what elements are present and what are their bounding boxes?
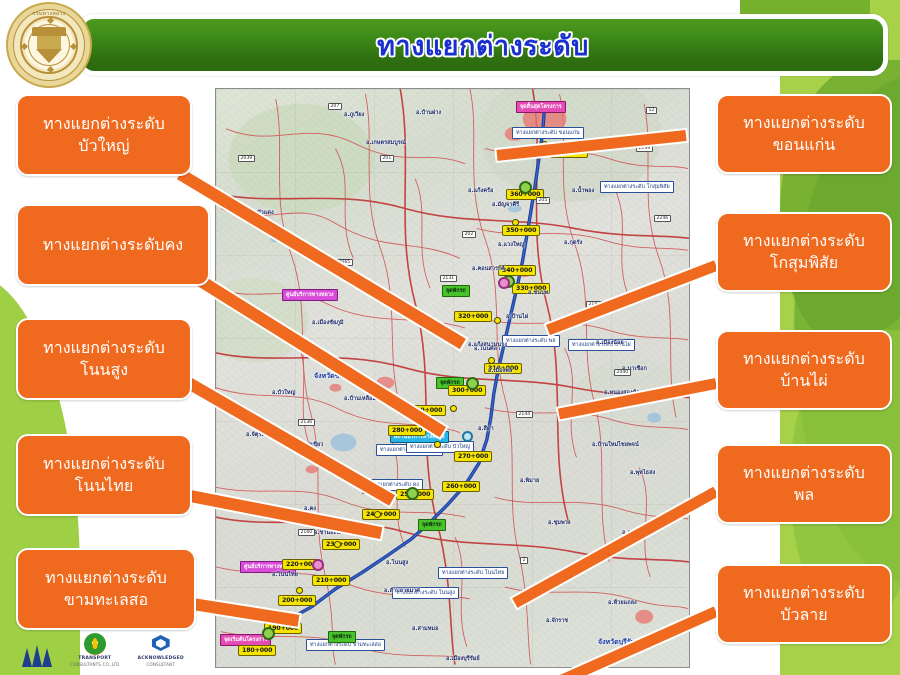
- map-label-rest-area-4: จุดพักรถ: [328, 631, 356, 643]
- map-label-project-end: จุดสิ้นสุดโครงการ: [516, 101, 566, 113]
- map-place: อ.สีดา: [478, 425, 494, 433]
- map-node-interchange: [488, 357, 495, 364]
- map-node-interchange: [434, 441, 441, 448]
- callout-line1: ทางแยกต่างระดับ: [45, 567, 167, 589]
- doh-logo: [22, 645, 52, 667]
- callout-line1: ทางแยกต่างระดับ: [43, 113, 165, 135]
- map-place: อ.เมืองบุรีรัมย์: [446, 655, 480, 663]
- km-marker: 240+000: [362, 509, 400, 520]
- map-place: อ.บ้านเหลื่อม: [344, 395, 376, 403]
- callout-line1: ทางแยกต่างระดับ: [743, 462, 865, 484]
- route-shield: 2199: [636, 145, 653, 152]
- map-place: อ.โนนไทย: [272, 571, 298, 579]
- slide-root: ทางแยกต่างระดับ กรมทางหลวง: [0, 0, 900, 675]
- callout-line2: โนนไทย: [75, 475, 133, 497]
- route-shield: 2246: [654, 215, 671, 222]
- callout-line1: ทางแยกต่างระดับ: [743, 230, 865, 252]
- callout-khong[interactable]: ทางแยกต่างระดับคง: [16, 204, 210, 286]
- leaf-circle-icon: [84, 633, 106, 655]
- route-shield: 2039: [238, 155, 255, 162]
- callout-line2: พล: [794, 484, 814, 506]
- km-marker: 270+000: [454, 451, 492, 462]
- seal-emblem-icon: [32, 25, 66, 65]
- map-label-ic-phon: ทางแยกต่างระดับ พล: [502, 335, 560, 347]
- project-route-map[interactable]: จุดสิ้นสุดโครงการ จุดเริ่มต้นโครงการ ทาง…: [215, 88, 690, 668]
- header-bar: ทางแยกต่างระดับ: [78, 14, 888, 76]
- callout-line1: ทางแยกต่างระดับ: [743, 348, 865, 370]
- transport-logo-caption: TRANSPORT: [78, 656, 111, 661]
- map-place: อ.ห้วยแถลง: [608, 599, 637, 607]
- map-label-ic-kosum-phisai: ทางแยกต่างระดับ โกสุมพิสัย: [600, 181, 674, 193]
- hexagon-icon: [150, 635, 172, 655]
- map-place: อ.เมืองพล: [488, 367, 512, 375]
- map-node-service: [498, 277, 510, 289]
- transport-logo-sub: CONSULTANTS CO.,LTD: [70, 662, 120, 667]
- route-shield: 2136: [298, 419, 315, 426]
- map-label-ic-non-thai: ทางแยกต่างระดับ โนนไทย: [438, 567, 508, 579]
- km-marker: 350+000: [502, 225, 540, 236]
- callout-non-sung[interactable]: ทางแยกต่างระดับ โนนสูง: [16, 318, 192, 400]
- map-node-rest-area: [519, 181, 532, 194]
- route-shield: 201: [380, 155, 394, 162]
- route-shield: 2160: [298, 529, 315, 536]
- km-marker: 280+000: [388, 425, 426, 436]
- callout-ban-mai[interactable]: ทางแยกต่างระดับ บ้านไผ่: [716, 330, 892, 410]
- map-place: อ.พุทไธสง: [630, 469, 655, 477]
- callout-line2: ขอนแก่น: [773, 134, 835, 156]
- callout-bua-yai[interactable]: ทางแยกต่างระดับ บัวใหญ่: [16, 94, 192, 176]
- acknowledged-caption: ACKNOWLEDGED: [138, 656, 184, 661]
- map-label-ic-khon-kaen: ทางแยกต่างระดับ ขอนแก่น: [512, 127, 584, 139]
- footer-logos: TRANSPORT CONSULTANTS CO.,LTD ACKNOWLEDG…: [22, 633, 184, 667]
- callout-line1: ทางแยกต่างระดับ: [43, 453, 165, 475]
- map-place: อ.ลำปลายมาศ: [384, 587, 420, 595]
- highways-mountain-icon: [22, 645, 52, 667]
- callout-line2: โกสุมพิสัย: [770, 252, 838, 274]
- map-place: อ.พิมาย: [520, 477, 539, 485]
- callout-line2: ขามทะเลสอ: [64, 589, 148, 611]
- km-marker: 320+000: [454, 311, 492, 322]
- callout-line2: บ้านไผ่: [780, 370, 828, 392]
- map-place: อ.โนนสูง: [386, 559, 408, 567]
- map-place: อ.เมืองชัยภูมิ: [312, 319, 344, 327]
- map-place: อ.น้ำพอง: [572, 187, 594, 195]
- callout-line2: โนนสูง: [80, 359, 128, 381]
- route-shield: 202: [462, 231, 476, 238]
- map-place: อ.ชุมพวง: [548, 519, 571, 527]
- map-place: อ.แก้งคร้อ: [468, 187, 493, 195]
- map-place: อ.ภูเวียง: [344, 111, 364, 119]
- map-node-interchange: [374, 511, 381, 518]
- callout-non-thai[interactable]: ทางแยกต่างระดับ โนนไทย: [16, 434, 192, 516]
- route-shield: 2131: [440, 275, 457, 282]
- route-shield: 207: [328, 103, 342, 110]
- callout-line2: บัวลาย: [780, 604, 827, 626]
- map-node-interchange: [494, 317, 501, 324]
- callout-khon-kaen[interactable]: ทางแยกต่างระดับ ขอนแก่น: [716, 94, 892, 174]
- map-place: อ.จักราช: [546, 617, 568, 625]
- map-place: อ.บ้านไผ่: [506, 313, 528, 321]
- callout-line2: บัวใหญ่: [78, 135, 129, 157]
- map-place: อ.แก้งสนามนาง: [468, 341, 507, 349]
- callout-line1: ทางแยกต่างระดับ: [743, 582, 865, 604]
- map-node-interchange: [334, 541, 341, 548]
- km-marker: 260+000: [442, 481, 480, 492]
- department-of-highways-seal: กรมทางหลวง: [6, 2, 92, 88]
- map-node-station: [462, 431, 473, 442]
- acknowledged-consultant-logo: ACKNOWLEDGED CONSULTANT: [138, 635, 184, 667]
- map-place: อ.ชนบท: [528, 289, 548, 297]
- map-label-rest-area-3: จุดพักรถ: [418, 519, 446, 531]
- km-marker: 200+000: [278, 595, 316, 606]
- map-place: อ.บ้านใหม่ไชยพจน์: [592, 441, 639, 449]
- map-label-rest-area-1: จุดพักรถ: [442, 285, 470, 297]
- map-node-interchange: [296, 587, 303, 594]
- callout-phon[interactable]: ทางแยกต่างระดับ พล: [716, 444, 892, 524]
- km-marker: 230+000: [322, 539, 360, 550]
- map-place: อ.บ้านฝาง: [416, 109, 441, 117]
- map-node-rest-area: [262, 627, 275, 640]
- map-place: อ.เกษตรสมบูรณ์: [366, 139, 406, 147]
- callout-kham-thale-so[interactable]: ทางแยกต่างระดับ ขามทะเลสอ: [16, 548, 196, 630]
- transport-consultant-logo: TRANSPORT CONSULTANTS CO.,LTD: [70, 633, 120, 667]
- km-marker: 180+000: [238, 645, 276, 656]
- callout-bua-lai[interactable]: ทางแยกต่างระดับ บัวลาย: [716, 564, 892, 644]
- map-node-service: [312, 559, 324, 571]
- page-title: ทางแยกต่างระดับ: [377, 24, 589, 67]
- map-node-interchange: [450, 405, 457, 412]
- map-label-service-center-1: ศูนย์บริการทางหลวง: [282, 289, 338, 301]
- route-shield: 2: [520, 557, 528, 564]
- map-place: อ.กุดรัง: [564, 239, 582, 247]
- map-node-rest-area: [406, 487, 419, 500]
- map-place: อ.สามหมอ: [412, 625, 438, 633]
- callout-kosum-phisai[interactable]: ทางแยกต่างระดับ โกสุมพิสัย: [716, 212, 892, 292]
- map-place: อ.มัญจาคีรี: [492, 201, 519, 209]
- callout-line1: ทางแยกต่างระดับ: [43, 337, 165, 359]
- map-place: อ.เมืองน้อย: [596, 339, 624, 347]
- km-marker: 210+000: [312, 575, 350, 586]
- route-shield: 2144: [516, 411, 533, 418]
- map-node-interchange: [512, 219, 519, 226]
- route-shield: 2440: [614, 369, 631, 376]
- route-shield: 205: [536, 197, 550, 204]
- map-place: อ.บัวใหญ่: [272, 389, 295, 397]
- map-place: อ.คอนสวรรค์: [472, 265, 505, 273]
- map-place: อ.แวงใหญ่: [498, 241, 524, 249]
- map-node-rest-area: [466, 377, 479, 390]
- callout-line1: ทางแยกต่างระดับ: [743, 112, 865, 134]
- route-shield: 12: [646, 107, 657, 114]
- acknowledged-sub: CONSULTANT: [146, 662, 174, 667]
- callout-line1: ทางแยกต่างระดับคง: [43, 234, 183, 256]
